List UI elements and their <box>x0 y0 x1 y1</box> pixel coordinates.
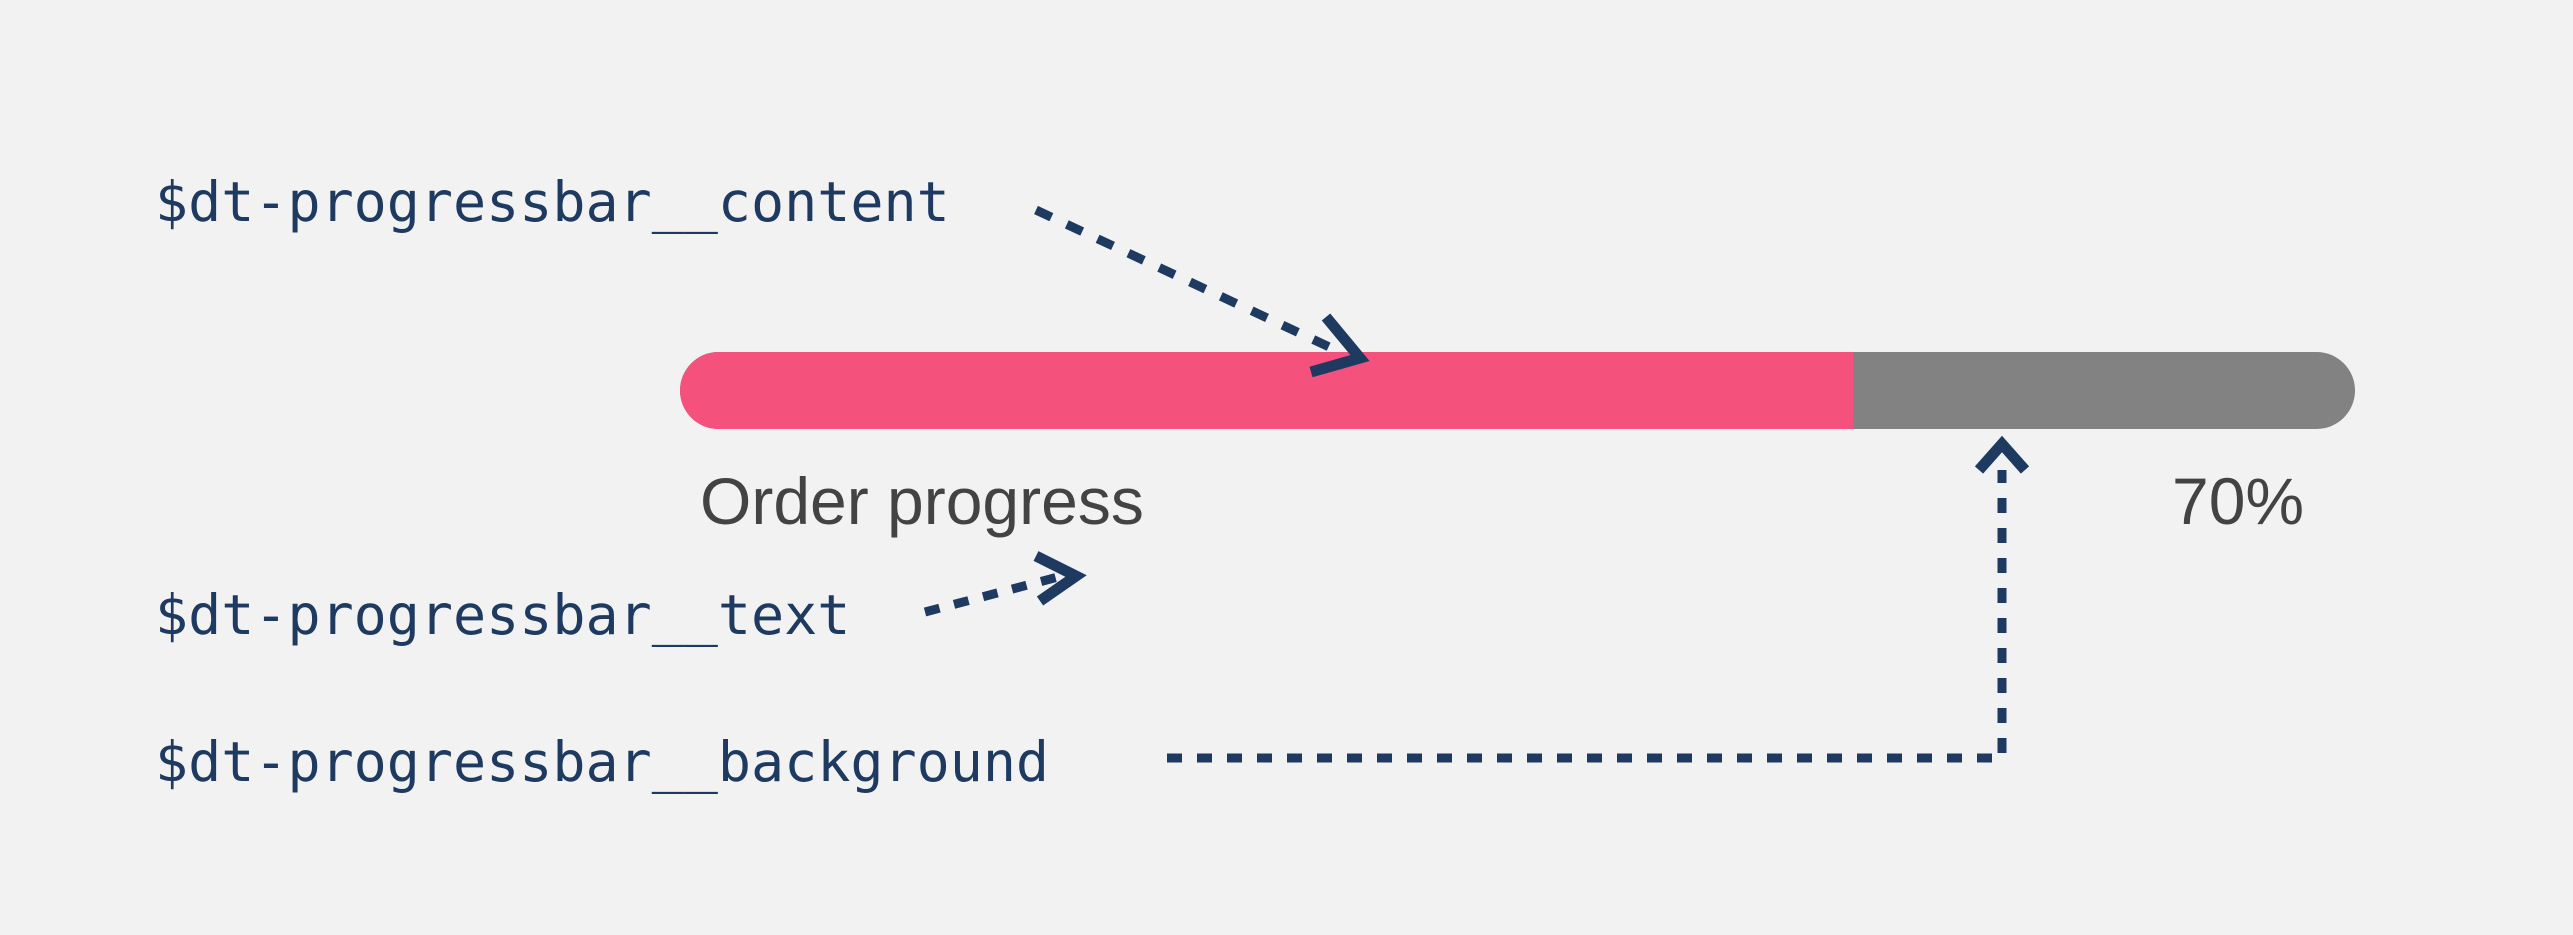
progressbar-text: Order progress <box>700 463 1144 539</box>
annotated-progressbar-diagram: Order progress 70% $dt-progressbar__cont… <box>0 0 2573 935</box>
annotation-label-text: $dt-progressbar__text <box>155 588 850 643</box>
arrow-to-content-icon <box>1036 210 1360 372</box>
progressbar-content <box>680 352 1853 429</box>
progressbar-background <box>680 352 2355 429</box>
arrow-to-text-icon <box>925 556 1076 612</box>
annotation-label-content: $dt-progressbar__content <box>155 175 950 230</box>
progressbar[interactable] <box>680 352 2355 429</box>
progressbar-percent-label: 70% <box>2172 463 2304 539</box>
annotation-label-background: $dt-progressbar__background <box>155 735 1049 790</box>
arrow-to-background-icon <box>1167 444 2025 758</box>
